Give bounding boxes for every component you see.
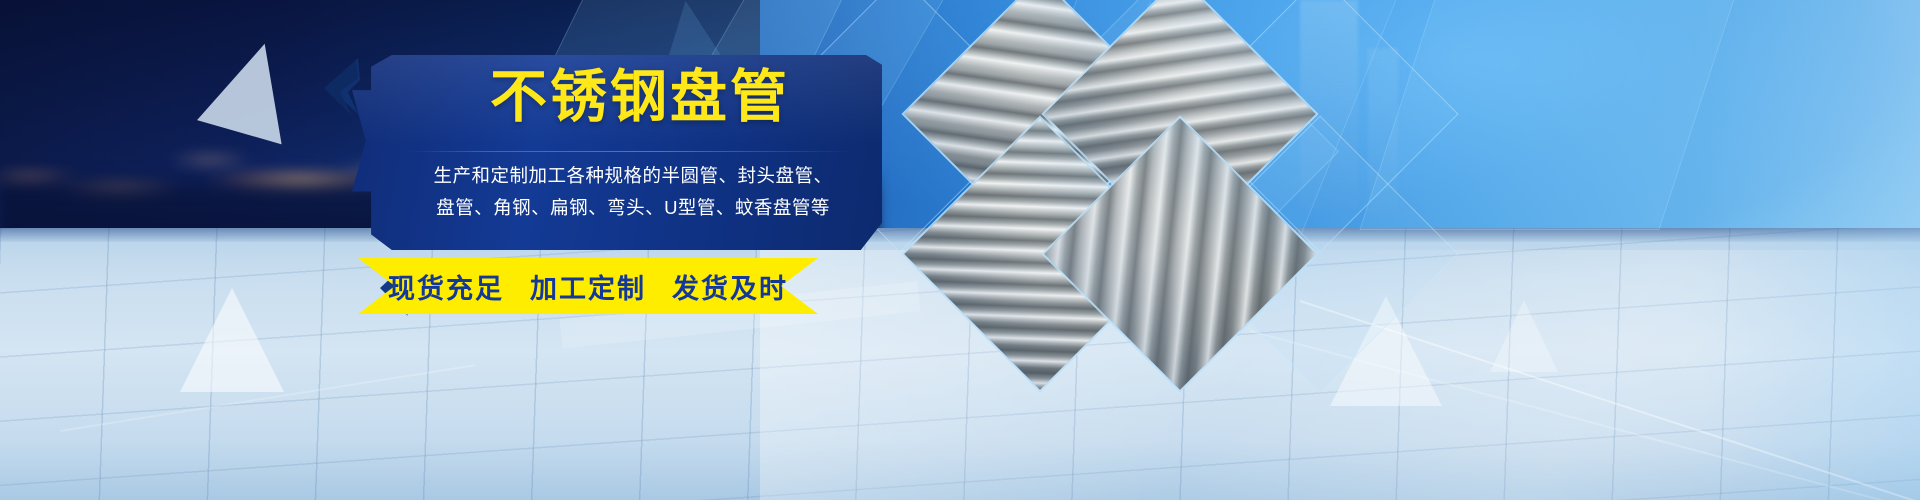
- promotional-banner: 不锈钢盘管 生产和定制加工各种规格的半圆管、封头盘管、 盘管、角钢、扁钢、弯头、…: [0, 0, 1920, 500]
- selling-point-item: 现货充足: [388, 267, 504, 306]
- headline-panel-inner: 不锈钢盘管 生产和定制加工各种规格的半圆管、封头盘管、 盘管、角钢、扁钢、弯头、…: [352, 55, 882, 250]
- headline-panel: 不锈钢盘管 生产和定制加工各种规格的半圆管、封头盘管、 盘管、角钢、扁钢、弯头、…: [352, 55, 882, 250]
- selling-point-item: 加工定制: [530, 267, 646, 306]
- selling-points-list: 现货充足 加工定制 发货及时: [358, 258, 818, 314]
- page-title: 不锈钢盘管: [352, 69, 882, 126]
- subtitle-line-2: 盘管、角钢、扁钢、弯头、U型管、蚊香盘管等: [398, 199, 868, 218]
- subtitle-line-1: 生产和定制加工各种规格的半圆管、封头盘管、: [398, 167, 868, 186]
- selling-points-ribbon: 现货充足 加工定制 发货及时: [358, 258, 818, 314]
- selling-point-item: 发货及时: [672, 267, 788, 306]
- panel-divider-line: [408, 151, 856, 152]
